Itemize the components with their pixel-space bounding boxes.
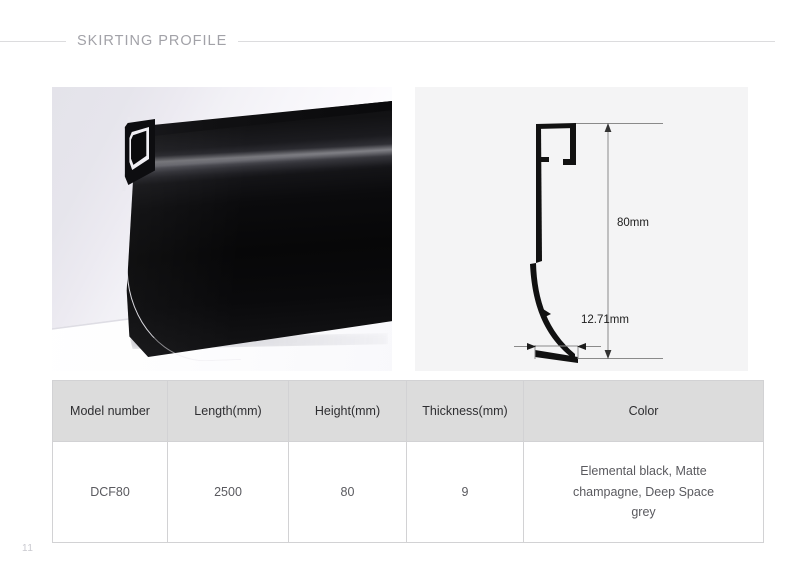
page-number: 11 [22,543,33,554]
specification-table: Model number Length(mm) Height(mm) Thick… [52,380,764,543]
header-rule-left [0,41,66,42]
cell-thickness: 9 [407,442,524,543]
profile-outline [530,123,578,363]
column-header-height: Height(mm) [289,381,407,442]
product-photo [52,87,392,371]
height-arrow-up [605,123,612,132]
media-panels: 80mm 12.71mm [52,87,748,371]
column-header-model-number: Model number [53,381,168,442]
cell-length: 2500 [168,442,289,543]
technical-drawing: 80mm 12.71mm [415,87,748,371]
table-body: DCF80 2500 80 9 Elemental black, Matte c… [53,442,764,543]
height-arrow-down [605,350,612,359]
board-front-face [124,101,392,357]
column-header-color: Color [524,381,764,442]
cell-model-number: DCF80 [53,442,168,543]
cell-height: 80 [289,442,407,543]
cell-color: Elemental black, Matte champagne, Deep S… [524,442,764,543]
width-dimension-label: 12.71mm [581,314,629,326]
column-header-length: Length(mm) [168,381,289,442]
table-header: Model number Length(mm) Height(mm) Thick… [53,381,764,442]
table-header-row: Model number Length(mm) Height(mm) Thick… [53,381,764,442]
height-dimension-label: 80mm [617,217,649,229]
photo-skirting-board [124,101,392,357]
page-header: SKIRTING PROFILE [0,30,800,52]
profile-cross-section-svg: 80mm 12.71mm [415,87,748,371]
header-rule-right [238,41,775,42]
page-title: SKIRTING PROFILE [66,33,238,49]
table-row: DCF80 2500 80 9 Elemental black, Matte c… [53,442,764,543]
column-header-thickness: Thickness(mm) [407,381,524,442]
